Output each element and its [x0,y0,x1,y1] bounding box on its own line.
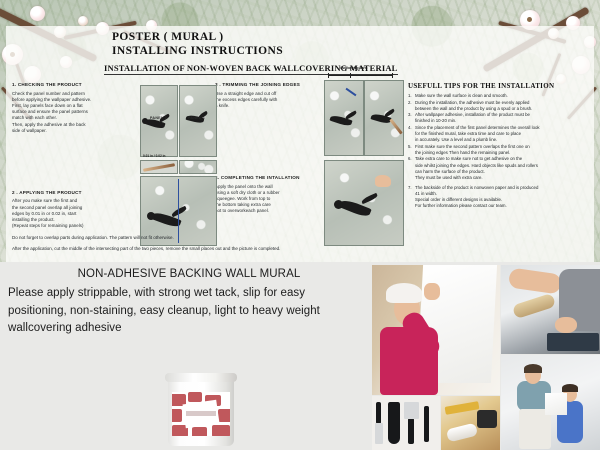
scraper-black [388,402,400,444]
blossom-center-2 [527,17,532,22]
promo-line-3: wallcovering adhesive [8,320,370,338]
father-hair [524,364,542,373]
bucket-label [172,392,230,436]
tip-1-line-1: Make sure the wall surface is clean and … [415,93,508,99]
tip-2-line-1: During the installation, the adhesive mu… [415,100,532,106]
tip-number: 7. [408,185,415,209]
step-4: 4. COMPLETING THE INTALLATION Apply the … [215,175,325,215]
step-3-body: Use a straight edge and cut off the exce… [215,91,325,110]
tip-item: 1. Make sure the wall surface is clean a… [408,93,594,99]
promo-line-2: positioning, non-staining, easy cleanup,… [8,303,370,321]
tip-number: 5. [408,144,415,156]
step-2-title: 2 . APPLYING THE PRODUCT [12,190,142,197]
label-swatch [218,409,230,422]
column-tips: USEFULL TIPS FOR THE INSTALLATION 1. Mak… [408,82,594,210]
promo-line-1: Please apply strippable, with strong wet… [8,285,370,303]
step-4-line-5: not to overworkeach panel. [215,208,325,214]
step-2-body: After you make sure the first and the se… [12,198,142,229]
tip-item: 5. First make sure the second pattern ov… [408,144,594,156]
diagram-step-1-panel-2: PANEL 3 [179,85,217,157]
putty-knife-handle [408,418,414,444]
step-3: 3 . TRIMMING THE JOINING EDGES Use a str… [215,82,325,109]
child-hair [562,384,578,392]
mural-sheet [545,393,567,415]
paste-pot [477,410,497,428]
tip-item: 7. The backside of the product is nonwov… [408,185,594,209]
step-3-title: 3 . TRIMMING THE JOINING EDGES [215,82,325,89]
adhesive-bucket [168,378,234,446]
footnote-1: Do not forget to overlap parts during ap… [12,234,174,241]
blossom-bud-2 [78,16,88,26]
knife-icon [143,163,175,172]
poster-title-line1: POSTER ( MURAL ) [112,30,594,44]
tool-blade-1 [375,423,383,444]
hand-shape [375,175,391,187]
tips-title: USEFULL TIPS FOR THE INSTALLATION [408,82,594,90]
paint-tray [547,333,599,351]
tip-5-line-2: the joining edges Then hand the remainin… [415,150,530,156]
diagram-step-2-roll [140,160,178,174]
step-4-body: Apply the panel onto the wall using a so… [215,184,325,215]
father-trousers [519,409,551,449]
step-3-line-3: a knife. [215,103,325,109]
photo-montage [372,265,600,450]
tip-6-line-2: side whilst joining the edges. Hard obje… [415,163,538,169]
label-swatch [212,425,230,436]
poster-title-line2: INSTALLING INSTRUCTIONS [112,44,594,58]
diagram-step-3-panel-b [364,80,404,156]
diagram-step-2-wall [179,160,217,174]
column-middle: 3 . TRIMMING THE JOINING EDGES Use a str… [215,82,325,215]
woman-cap [386,283,422,303]
bucket-lid [165,373,237,382]
diagram-step-1-panel-1: PANEL 2 [140,85,178,157]
label-swatch [192,427,207,436]
label-text-bar [186,411,216,416]
overlap-guide-line [178,179,179,243]
tool-handle-1 [376,402,381,424]
yellow-tool [445,401,480,415]
tip-number: 1. [408,93,415,99]
step-1-line-7: side of wallpaper. [12,128,142,134]
tip-item: 2. During the installation, the adhesive… [408,100,594,112]
promo-title: NON-ADHESIVE BACKING WALL MURAL [8,268,370,280]
instruction-panel: POSTER ( MURAL ) INSTALLING INSTRUCTIONS… [6,26,594,262]
tip-number: 2. [408,100,415,112]
column-left: 1. CHECKING THE PRODUCT Check the panel … [12,82,142,229]
photo-tools [372,396,440,450]
photo-father-and-child [501,355,600,450]
panel-label-3: PANEL 3 [188,116,205,120]
photo-workbench [441,396,500,450]
footnote-2: After the application, cut the middle of… [12,245,280,252]
step-1-body: Check the panel number and pattern befor… [12,91,142,134]
photo-woman-hanging-wallpaper [372,265,500,395]
diagram-step-3-panel-a [324,80,364,156]
label-swatch [172,409,182,422]
tip-5-line-1: First make sure the second pattern overl… [415,144,530,150]
wallpaper-roll [446,423,478,443]
forearm [508,267,562,294]
tip-text: During the installation, the adhesive mu… [415,100,532,112]
step-1: 1. CHECKING THE PRODUCT Check the panel … [12,82,142,134]
worker-hand [555,317,577,333]
tip-number: 6. [408,156,415,180]
step-4-title: 4. COMPLETING THE INTALLATION [215,175,325,182]
tip-text: Take extra care to make sure not to get … [415,156,538,180]
measure-rule [328,75,393,76]
tip-number: 4. [408,125,415,143]
tip-3-line-2: finished in 10-20 min. [415,118,530,124]
tip-2-line-2: between the wall and the product by usin… [415,106,532,112]
tip-text: First make sure the second pattern overl… [415,144,530,156]
tip-6-line-4: They must be used with extra care. [415,175,538,181]
step-1-title: 1. CHECKING THE PRODUCT [12,82,142,89]
blossom-5 [30,6,45,21]
tip-text: After wallpaper adhesive, installation o… [415,112,530,124]
promo-body: Please apply strippable, with strong wet… [8,285,370,338]
putty-knife-blade [404,402,419,419]
tip-7-line-1: The backside of the product is nonwoven … [415,185,538,191]
tip-item: 3. After wallpaper adhesive, installatio… [408,112,594,124]
tip-7-line-4: For further information please contact o… [415,203,538,209]
panel-header: POSTER ( MURAL ) INSTALLING INSTRUCTIONS… [6,26,594,76]
tip-6-line-1: Take extra care to make sure not to get … [415,156,538,162]
tip-text: The backside of the product is nonwoven … [415,185,538,209]
step-2: 2 . APPLYING THE PRODUCT After you make … [12,190,142,230]
cutter-knife [424,406,429,442]
step-2-line-5: (Repeat steps for remaining panels) [12,223,142,229]
overlapping-parts-label: Overlapping Parts [340,66,367,70]
photo-paint-roller [501,265,600,354]
promo-text-block: NON-ADHESIVE BACKING WALL MURAL Please a… [8,268,370,338]
tip-item: 6. Take extra care to make sure not to g… [408,156,594,180]
tip-4-line-3: in accurately. Use a level and a plumb l… [415,137,540,143]
panel-label-2: PANEL 2 [150,116,167,120]
tip-number: 3. [408,112,415,124]
diagram-step-4-photo [324,160,404,246]
tip-text: Make sure the wall surface is clean and … [415,93,508,99]
tip-item: 4. Since the placement of the first pane… [408,125,594,143]
paint-roller-icon [512,293,556,319]
tip-text: Since the placement of the first panel d… [415,125,540,143]
woman-hand [424,283,440,300]
label-swatch [188,392,202,402]
measure-label: 0.01 in / 0.02 in [143,154,166,158]
